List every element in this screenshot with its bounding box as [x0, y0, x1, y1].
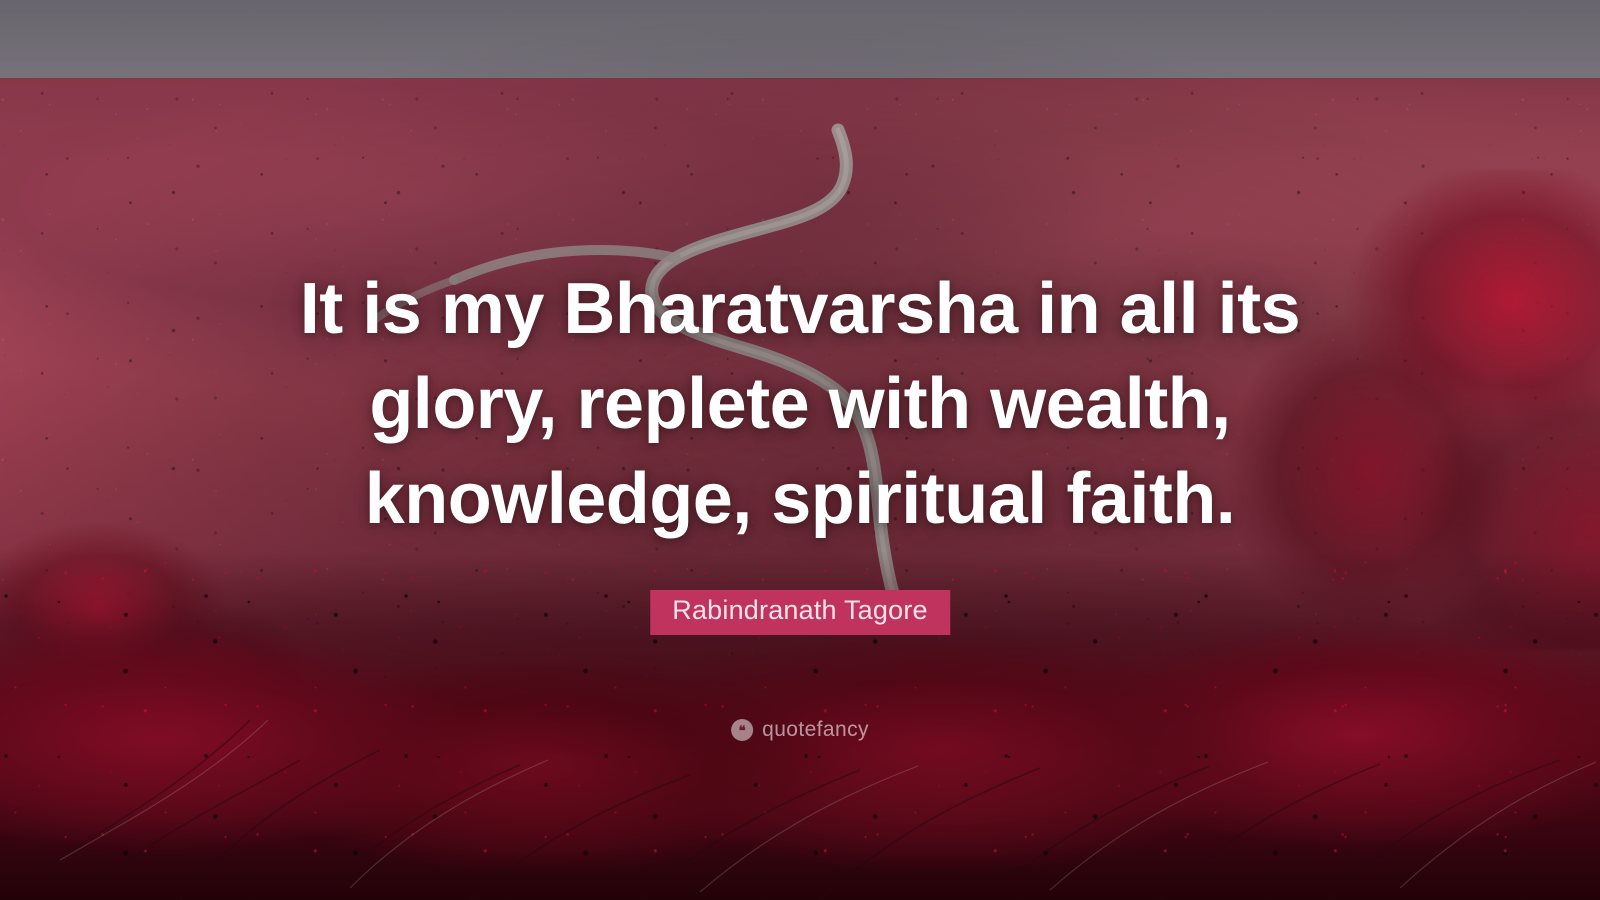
quote-poster: It is my Bharatvarsha in all its glory, … [0, 0, 1600, 900]
quote-line-3: knowledge, spiritual faith. [250, 452, 1350, 547]
author-badge: Rabindranath Tagore [650, 590, 950, 635]
quote-line-2: glory, replete with wealth, [250, 357, 1350, 452]
quotefancy-watermark[interactable]: ❝ quotefancy [731, 718, 869, 742]
quote-line-1: It is my Bharatvarsha in all its [250, 262, 1350, 357]
watermark-brand-label: quotefancy [762, 718, 869, 742]
quote-mark-icon: ❝ [731, 719, 753, 741]
quote-text: It is my Bharatvarsha in all its glory, … [250, 262, 1350, 547]
overlay-content: It is my Bharatvarsha in all its glory, … [0, 0, 1600, 900]
